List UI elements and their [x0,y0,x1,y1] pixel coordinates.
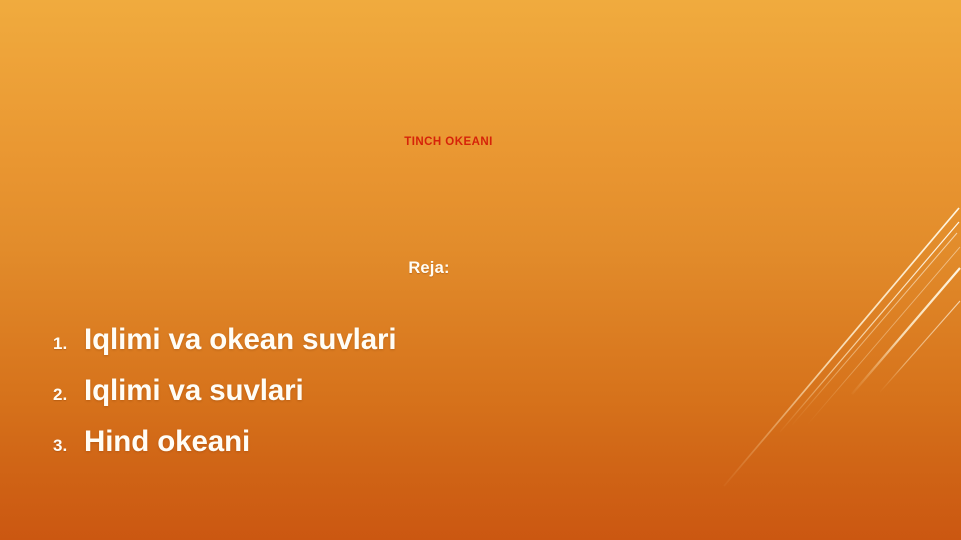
list-item-label: Iqlimi va suvlari [84,376,304,406]
slide-title: Tinch okeani [0,136,897,148]
presentation-slide: Tinch okeani Reja: 1. Iqlimi va okean su… [0,0,961,540]
list-item: 3. Hind okeani [53,427,673,478]
list-item-label: Iqlimi va okean suvlari [84,325,397,355]
list-item-marker: 3. [53,436,84,456]
streak-line [724,208,959,486]
streak-line [880,301,960,392]
list-item-marker: 1. [53,334,84,354]
slide-subtitle: Reja: [0,259,858,278]
list-item: 1. Iqlimi va okean suvlari [53,325,673,376]
list-item: 2. Iqlimi va suvlari [53,376,673,427]
list-item-label: Hind okeani [84,427,250,457]
streak-group [724,208,960,486]
outline-list: 1. Iqlimi va okean suvlari 2. Iqlimi va … [53,325,673,478]
list-item-marker: 2. [53,385,84,405]
streak-line [780,222,959,432]
streak-line [852,268,960,394]
